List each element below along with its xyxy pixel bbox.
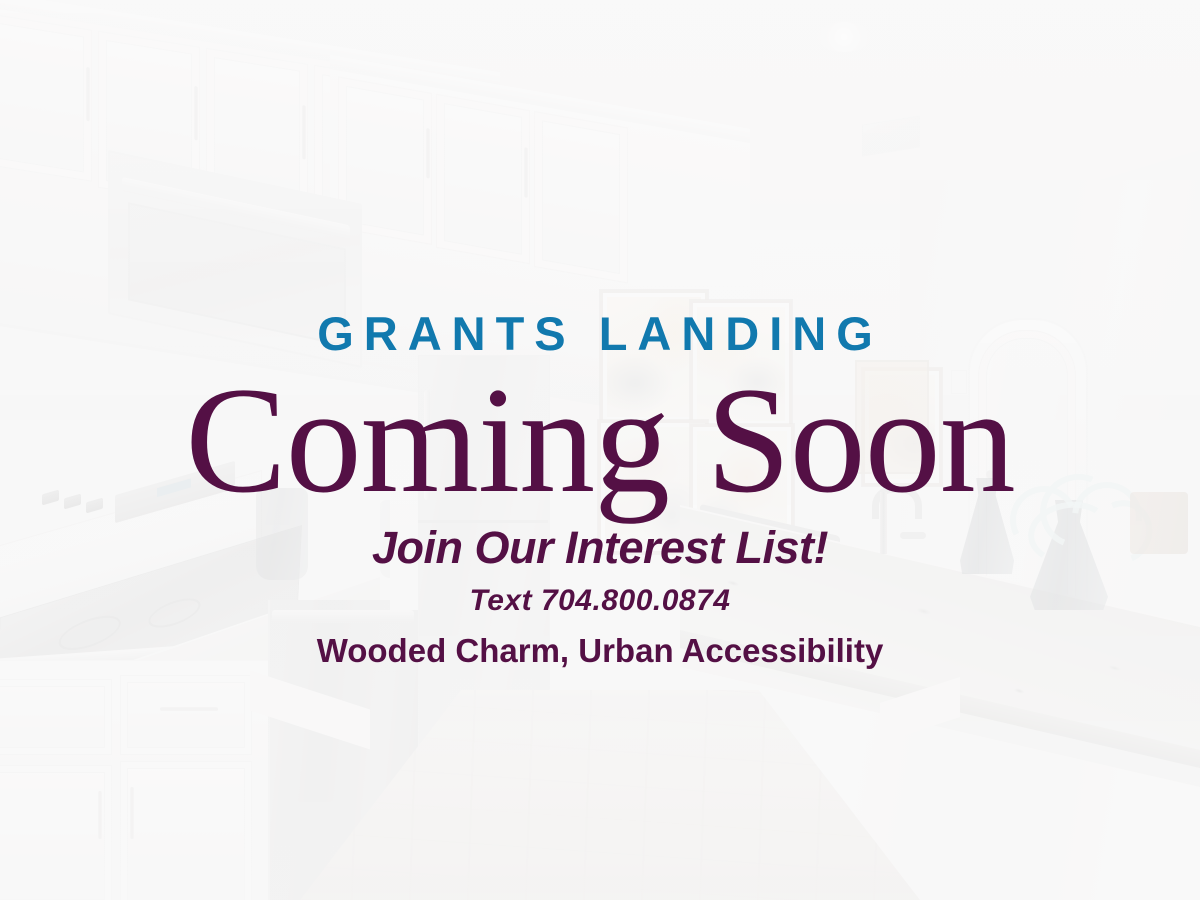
coming-soon-poster: GRANTS LANDING Coming Soon Join Our Inte… xyxy=(0,0,1200,900)
community-name: GRANTS LANDING xyxy=(317,310,883,357)
status-headline: Coming Soon xyxy=(185,371,1014,511)
community-tagline: Wooded Charm, Urban Accessibility xyxy=(317,634,884,667)
poster-text-overlay: GRANTS LANDING Coming Soon Join Our Inte… xyxy=(0,0,1200,900)
call-to-action: Join Our Interest List! xyxy=(372,525,828,570)
contact-phone[interactable]: Text 704.800.0874 xyxy=(470,586,731,616)
